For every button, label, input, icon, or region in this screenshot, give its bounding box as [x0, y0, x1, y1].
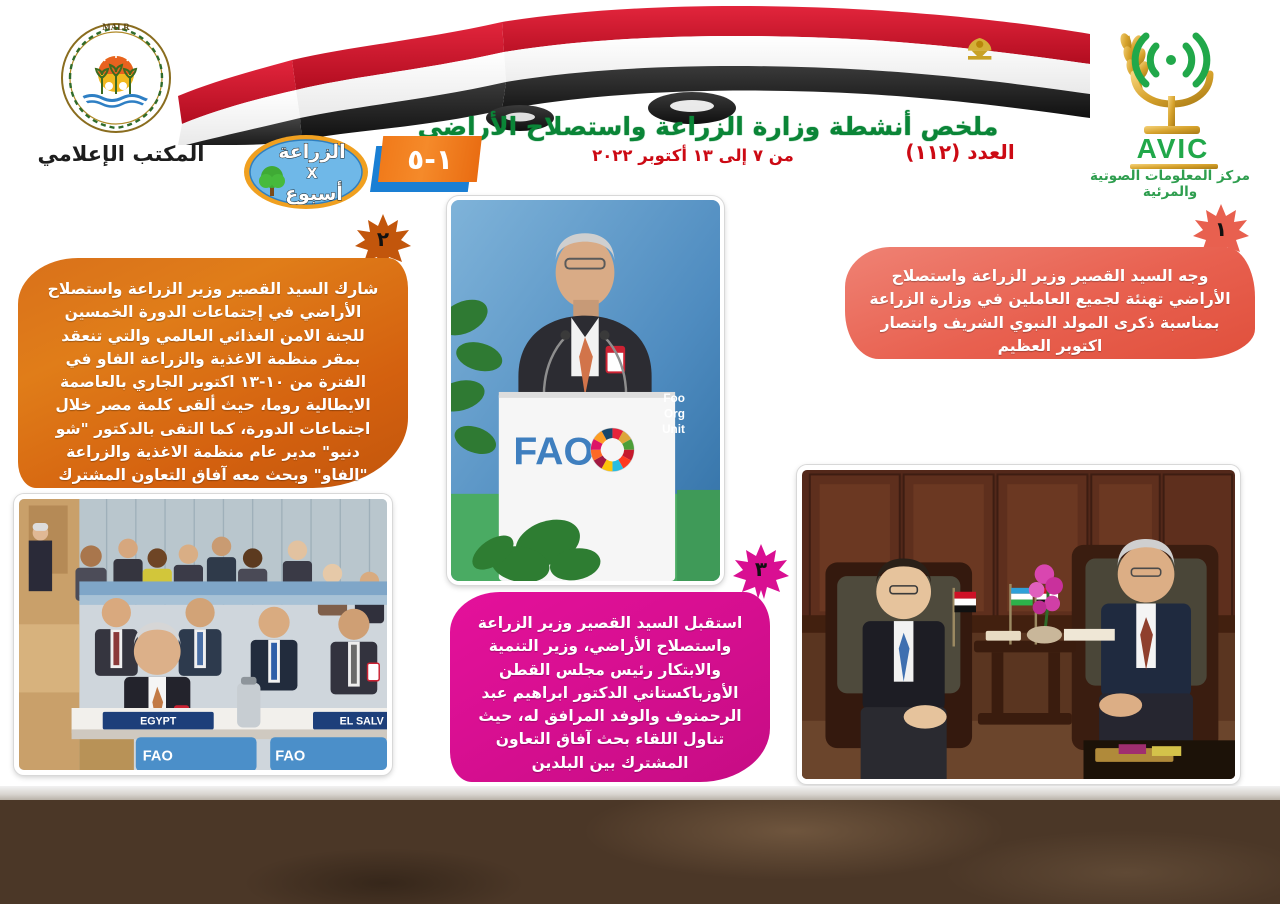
backdrop-line-2: Org	[664, 407, 685, 420]
footer-separator	[0, 786, 1280, 800]
fao-chair-logo-2: FAO	[275, 749, 305, 765]
news-card-2: شارك السيد القصير وزير الزراعة واستصلاح …	[18, 258, 408, 488]
news-card-3: استقبل السيد القصير وزير الزراعة واستصلا…	[450, 592, 770, 782]
malr-wordmark: MALR	[102, 22, 130, 32]
malr-ministry-logo: MALR	[48, 18, 184, 144]
page-title: ملخص أنشطة وزارة الزراعة واستصلاح الأراض…	[408, 112, 1008, 141]
item-number-3: ٣	[755, 557, 767, 581]
photo-bilateral-meeting	[797, 465, 1240, 784]
nameplate-el-salvador: EL SALV	[340, 716, 385, 728]
agri-badge-line2: X	[307, 166, 318, 182]
page-badge-plate: ١-٥	[378, 136, 482, 182]
avic-subtitle: مركز المعلومات الصوتية والمرئية	[1062, 168, 1278, 200]
date-range-label: من ٧ إلى ١٣ أكتوبر ٢٠٢٢	[548, 146, 838, 165]
agri-badge-line3: أسبوع	[285, 181, 343, 205]
fao-podium-logo: FAO	[513, 430, 594, 473]
nameplate-egypt: EGYPT	[140, 716, 177, 728]
footer-bar: /Agr.Avic1 /Agr.Avic1	[0, 800, 1280, 904]
signal-waves-icon	[1135, 36, 1207, 84]
avic-logo: AVIC	[1098, 22, 1248, 170]
avic-wordmark: AVIC	[1137, 133, 1210, 164]
backdrop-line-1: Foo	[663, 392, 685, 405]
media-office-label: المكتب الإعلامي	[36, 142, 206, 166]
photo-minister-at-fao-podium: FAO	[447, 196, 724, 585]
page-badge-text: ١-٥	[407, 143, 453, 176]
item-number-2: ٢	[377, 227, 389, 251]
egypt-eagle-emblem	[968, 38, 991, 60]
agriculture-week-badge: الزراعة X أسبوع	[240, 128, 372, 210]
photo-fao-committee-session: EGYPT EL SALV FAO FAO	[14, 494, 392, 775]
agri-badge-line1: الزراعة	[278, 141, 345, 163]
bulletin-page: MALR المكتب الإعلامي	[0, 0, 1280, 904]
page-number-badge: ١-٥	[378, 136, 482, 188]
news-card-1: وجه السيد القصير وزير الزراعة واستصلاح ا…	[845, 247, 1255, 359]
issue-number-label: العدد (١١٢)	[860, 140, 1060, 164]
fao-chair-logo-1: FAO	[143, 749, 173, 765]
backdrop-line-3: Unit	[662, 423, 685, 436]
item-number-1: ١	[1215, 217, 1227, 241]
